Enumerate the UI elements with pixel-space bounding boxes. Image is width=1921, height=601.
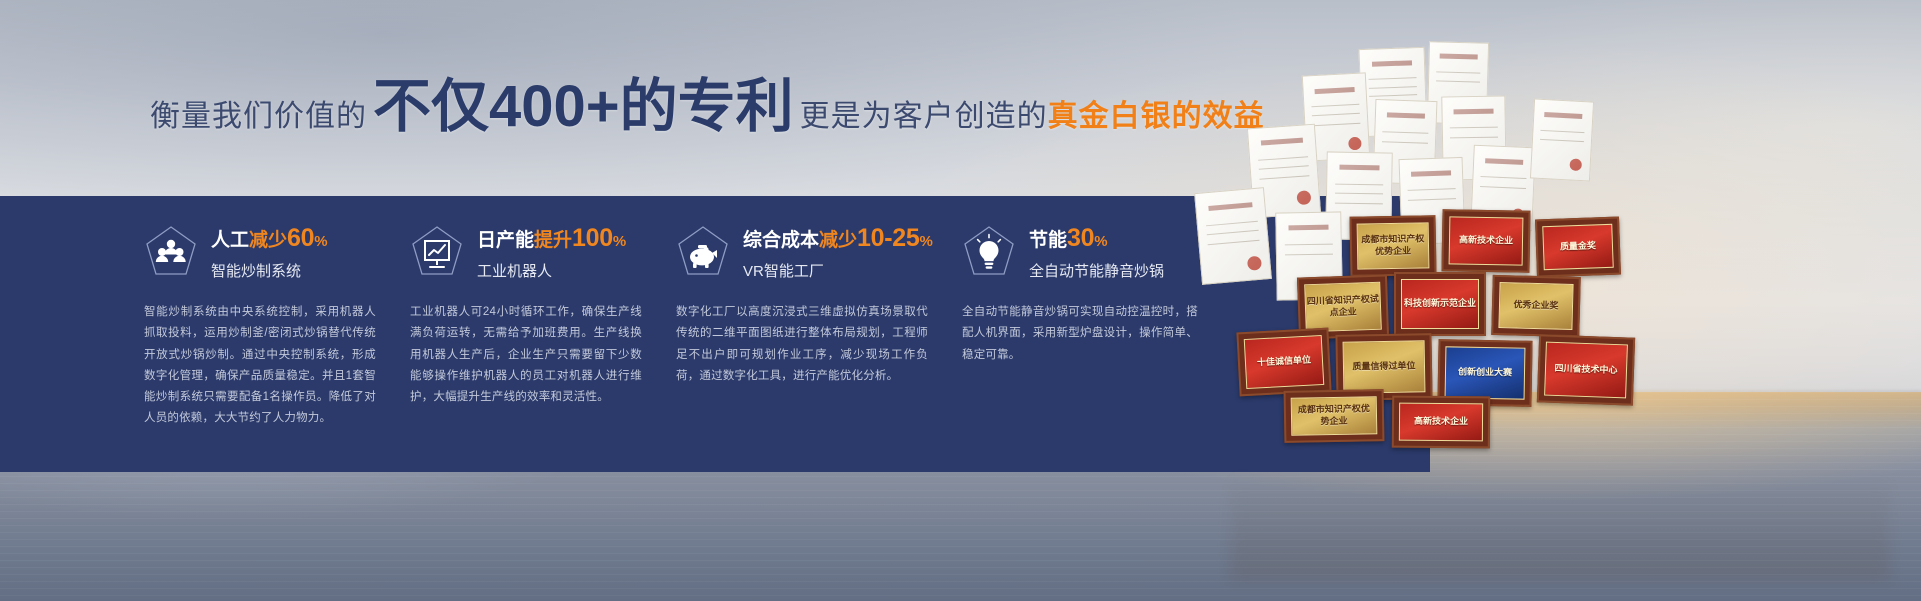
award-plaque-text: 优秀企业奖 [1500, 287, 1571, 325]
award-plaque-text: 成都市知识产权优势企业 [1293, 400, 1374, 432]
feature-body-2: 数字化工厂以高度沉浸式三维虚拟仿真场景取代传统的二维平面图纸进行整体布局规划，工… [676, 302, 928, 387]
chart-board-icon [410, 224, 464, 284]
feature-percent-2: % [919, 233, 932, 250]
award-plaque-text: 四川省知识产权试点企业 [1306, 287, 1380, 327]
certificate-paper [1530, 98, 1594, 181]
feature-header-2: 综合成本减少10-25% VR智能工厂 [676, 222, 961, 284]
feature-header-1: 日产能提升100% 工业机器人 [410, 222, 675, 284]
award-plaque-text: 质量信得过单位 [1345, 346, 1423, 387]
certificate-paper [1194, 187, 1272, 285]
feature-number-1: 100 [572, 224, 613, 252]
award-plaque: 高新技术企业 [1441, 209, 1530, 273]
feature-subtitle-3: 全自动节能静音炒锅 [1029, 260, 1164, 281]
feature-title-white-2: 综合成本 [743, 230, 819, 251]
award-plaque: 高新技术企业 [1392, 396, 1490, 449]
piggy-bank-icon [676, 224, 730, 284]
feature-percent-0: % [314, 233, 327, 250]
feature-item-2: 综合成本减少10-25% VR智能工厂 数字化工厂以高度沉浸式三维虚拟仿真场景取… [676, 222, 961, 387]
feature-title-2: 综合成本减少10-25% [743, 226, 933, 251]
award-plaque: 科技创新示范企业 [1394, 272, 1486, 336]
feature-subtitle-1: 工业机器人 [477, 260, 626, 281]
feature-number-3: 30 [1067, 224, 1094, 252]
feature-body-0: 智能炒制系统由中央系统控制，采用机器人抓取投料，运用炒制釜/密闭式炒锅替代传统开… [144, 302, 376, 430]
feature-header-0: 人工减少60% 智能炒制系统 [144, 222, 409, 284]
feature-title-orange-0: 减少 [249, 230, 287, 251]
award-plaque-text: 创新创业大赛 [1447, 352, 1523, 393]
feature-text-0: 人工减少60% 智能炒制系统 [211, 222, 328, 281]
headline: 衡量我们价值的 不仅400+的专利 更是为客户创造的 真金白银的效益 [150, 78, 1265, 140]
certificate-wall: 成都市知识产权优势企业 高新技术企业 质量金奖 四川省知识产权试点企业 科技创新… [1180, 40, 1921, 480]
award-plaque-text: 高新技术企业 [1401, 406, 1480, 437]
award-plaque: 质量金奖 [1535, 217, 1621, 278]
award-plaque: 成都市知识产权优势企业 [1349, 215, 1436, 276]
feature-number-0: 60 [287, 224, 314, 252]
lightbulb-icon [962, 224, 1016, 284]
feature-item-1: 日产能提升100% 工业机器人 工业机器人可24小时循环工作，确保生产线满负荷运… [410, 222, 675, 408]
award-plaque-text: 四川省技术中心 [1547, 348, 1626, 392]
award-plaque: 十佳诚信单位 [1236, 328, 1331, 397]
award-plaque: 优秀企业奖 [1491, 275, 1581, 337]
feature-item-0: 人工减少60% 智能炒制系统 智能炒制系统由中央系统控制，采用机器人抓取投料，运… [144, 222, 409, 430]
feature-number-2: 10-25 [857, 224, 919, 252]
headline-emphasis: 不仅400+的专利 [373, 78, 794, 136]
feature-percent-3: % [1094, 233, 1107, 250]
award-plaque-text: 科技创新示范企业 [1403, 285, 1477, 323]
feature-title-orange-1: 提升 [534, 230, 572, 251]
feature-title-orange-2: 减少 [819, 230, 857, 251]
award-plaque-text: 十佳诚信单位 [1246, 341, 1322, 383]
feature-text-2: 综合成本减少10-25% VR智能工厂 [743, 222, 933, 281]
promo-banner: 衡量我们价值的 不仅400+的专利 更是为客户创造的 真金白银的效益 [0, 0, 1921, 601]
award-plaque: 成都市知识产权优势企业 [1284, 389, 1385, 443]
headline-middle: 更是为客户创造的 [800, 91, 1048, 135]
feature-body-3: 全自动节能静音炒锅可实现自动控温控时，搭配人机界面，采用新型炉盘设计，操作简单、… [962, 302, 1198, 366]
feature-title-0: 人工减少60% [211, 226, 328, 251]
feature-title-white-1: 日产能 [477, 230, 534, 251]
feature-title-1: 日产能提升100% [477, 226, 626, 251]
people-group-icon [144, 224, 198, 284]
feature-title-3: 节能30% [1029, 226, 1164, 251]
feature-text-3: 节能30% 全自动节能静音炒锅 [1029, 222, 1164, 281]
feature-subtitle-2: VR智能工厂 [743, 260, 933, 281]
feature-text-1: 日产能提升100% 工业机器人 [477, 222, 626, 281]
headline-lead: 衡量我们价值的 [150, 91, 367, 135]
certificate-reflection [1230, 470, 1890, 580]
award-plaque-text: 成都市知识产权优势企业 [1358, 227, 1428, 264]
award-plaque: 四川省技术中心 [1537, 334, 1635, 405]
feature-title-white-3: 节能 [1029, 230, 1067, 251]
feature-subtitle-0: 智能炒制系统 [211, 260, 328, 281]
feature-title-white-0: 人工 [211, 230, 249, 251]
award-plaque-text: 高新技术企业 [1450, 222, 1521, 260]
feature-percent-1: % [613, 233, 626, 250]
feature-body-1: 工业机器人可24小时循环工作，确保生产线满负荷运转，无需给予加班费用。生产线换用… [410, 302, 642, 408]
award-plaque-text: 质量金奖 [1544, 229, 1612, 266]
